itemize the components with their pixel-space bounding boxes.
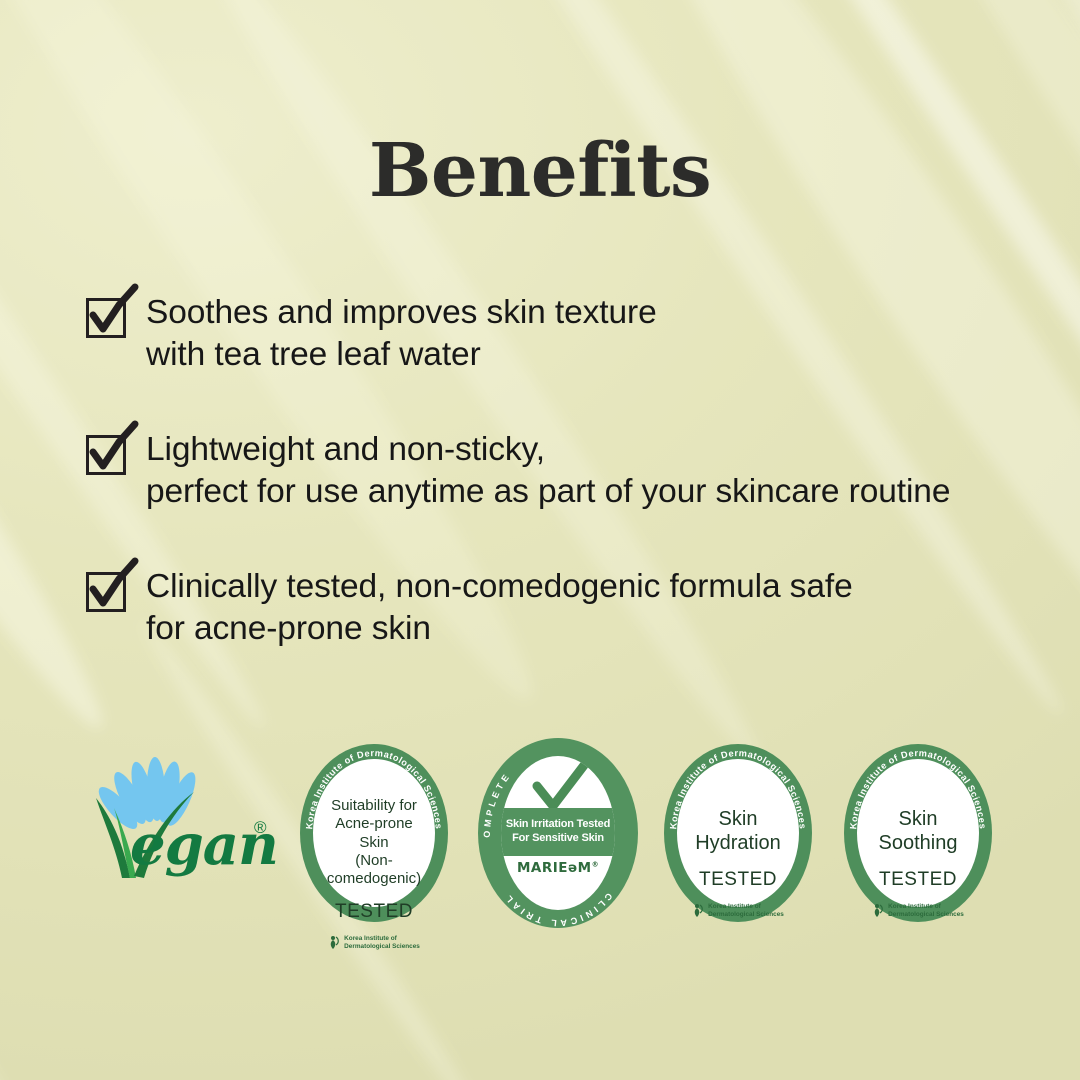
badge-footer-text: Korea Institute of Dermatological Scienc… bbox=[888, 903, 964, 919]
badge-skin-hydration-tested: Korea Institute of Dermatological Scienc… bbox=[664, 744, 812, 922]
badge-main-text: Suitability for Acne-prone Skin (Non-com… bbox=[313, 797, 435, 888]
badge-skin-soothing-tested: Korea Institute of Dermatological Scienc… bbox=[844, 744, 992, 922]
benefit-item: Lightweight and non-sticky, perfect for … bbox=[86, 429, 1026, 512]
badge-status: TESTED bbox=[699, 869, 777, 891]
badge-footer-text: Korea Institute of Dermatological Scienc… bbox=[708, 903, 784, 919]
kids-emblem-icon bbox=[692, 903, 704, 919]
badge-main-text: Skin Soothing bbox=[857, 797, 979, 856]
checkbox-checked-icon bbox=[86, 298, 124, 336]
benefit-text: Lightweight and non-sticky, perfect for … bbox=[146, 429, 950, 512]
kids-emblem-icon bbox=[872, 903, 884, 919]
badge-footer-logo: Korea Institute of Dermatological Scienc… bbox=[692, 903, 784, 919]
badge-acne-prone-tested: Korea Institute of Dermatological Scienc… bbox=[300, 744, 448, 922]
certification-badges: egan ® Korea Institute of Dermatological… bbox=[0, 738, 1080, 928]
badge-footer-logo: Korea Institute of Dermatological Scienc… bbox=[328, 935, 420, 951]
badge-status: TESTED bbox=[335, 901, 413, 923]
badge-band: Skin Irritation Tested For Sensitive Ski… bbox=[501, 808, 615, 856]
checkbox-checked-icon bbox=[86, 572, 124, 610]
benefit-item: Clinically tested, non-comedogenic formu… bbox=[86, 566, 1026, 649]
benefit-item: Soothes and improves skin texture with t… bbox=[86, 292, 1026, 375]
badge-status: TESTED bbox=[879, 869, 957, 891]
registered-mark: ® bbox=[254, 818, 267, 838]
benefit-text: Soothes and improves skin texture with t… bbox=[146, 292, 657, 375]
badge-footer-logo: Korea Institute of Dermatological Scienc… bbox=[872, 903, 964, 919]
badge-footer-text: Korea Institute of Dermatological Scienc… bbox=[344, 935, 420, 951]
badge-main-text: Skin Hydration bbox=[677, 797, 799, 856]
page-title: Benefits bbox=[0, 128, 1080, 214]
benefit-text: Clinically tested, non-comedogenic formu… bbox=[146, 566, 853, 649]
marie-brand-logo: MARIEǝM® bbox=[501, 860, 615, 876]
product-benefits-page: Benefits Soothes and improves skin textu… bbox=[0, 0, 1080, 1080]
benefits-list: Soothes and improves skin texture with t… bbox=[86, 292, 1026, 703]
kids-emblem-icon bbox=[328, 935, 340, 951]
checkbox-checked-icon bbox=[86, 435, 124, 473]
badge-clinical-trial-completed: COMPLETED CLINICAL TRIAL Skin Irritation… bbox=[478, 738, 638, 928]
vegan-logo: egan ® bbox=[78, 756, 274, 896]
